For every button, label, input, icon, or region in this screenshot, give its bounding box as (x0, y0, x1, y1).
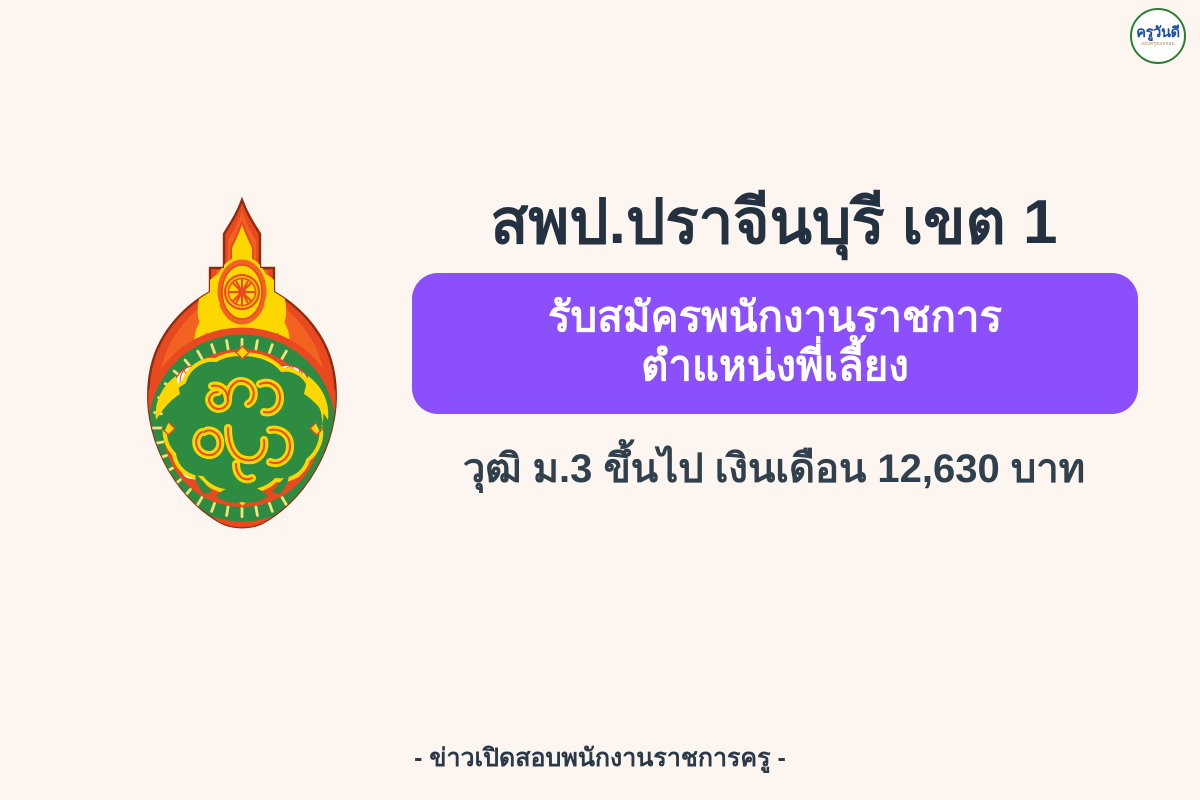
banner-line-2: ตำแหน่งพี่เลี้ยง (436, 342, 1114, 391)
qualification-salary-text: วุฒิ ม.3 ขึ้นไป เงินเดือน 12,630 บาท (400, 436, 1148, 500)
footer-tagline: - ข่าวเปิดสอบพนักงานราชการครู - (0, 738, 1200, 778)
poster-content: สพป.ปราจีนบุรี เขต 1 รับสมัครพนักงานราชก… (400, 190, 1148, 500)
kruwandee-logo: ครูวันดี สอบครูดอทคอม (1130, 8, 1186, 64)
poster-canvas: ครูวันดี สอบครูดอทคอม (0, 0, 1200, 800)
page-title: สพป.ปราจีนบุรี เขต 1 (400, 190, 1148, 257)
kruwandee-logo-subtext: สอบครูดอทคอม (1141, 42, 1175, 47)
banner-line-1: รับสมัครพนักงานราชการ (436, 293, 1114, 342)
kruwandee-logo-text: ครูวันดี (1136, 26, 1179, 41)
position-banner: รับสมัครพนักงานราชการ ตำแหน่งพี่เลี้ยง (412, 273, 1138, 414)
obec-seal-icon (132, 196, 352, 544)
